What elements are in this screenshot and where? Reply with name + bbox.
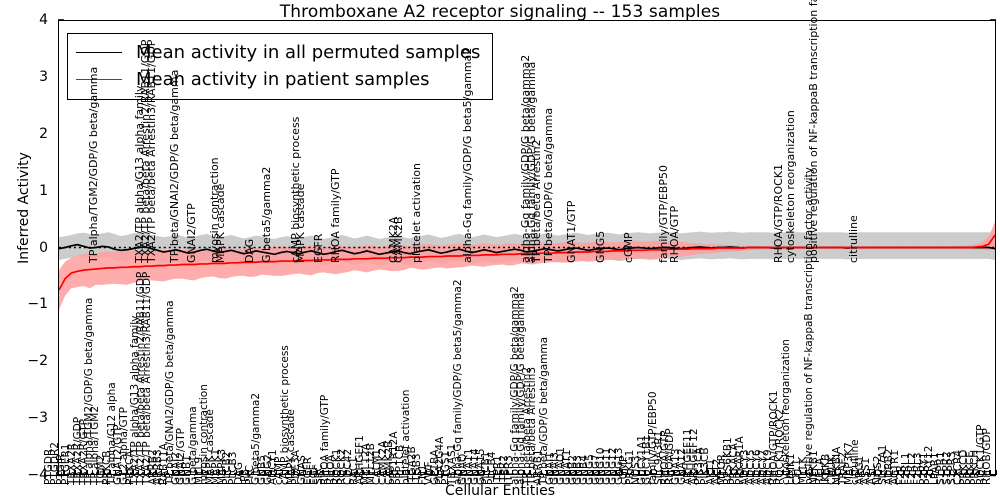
series-annotation: TP beta/GNAI2/GDP/G beta/gamma	[168, 69, 181, 262]
series-annotation: G beta5/gamma2	[260, 166, 273, 262]
chart-title: Thromboxane A2 receptor signaling -- 153…	[0, 2, 1000, 22]
legend-swatch-permuted	[76, 52, 122, 53]
y-tick-label: 2	[0, 126, 48, 142]
figure-canvas: Thromboxane A2 receptor signaling -- 153…	[0, 0, 1000, 500]
series-annotation: TXA2/TP beta/beta Arrestin3/RAB11/GDP	[145, 39, 158, 262]
y-tick-label: −4	[0, 467, 48, 483]
series-annotation: cGMP	[622, 232, 635, 263]
series-annotation: GNAT1/GTP	[565, 200, 578, 262]
series-annotation: RHOA/GTP	[668, 206, 681, 263]
series-annotation: DAG	[243, 238, 256, 262]
chart-legend: Mean activity in all permuted samples Me…	[67, 33, 493, 100]
series-annotation: RHOA family/GTP	[329, 168, 342, 263]
y-tick-label: 1	[0, 183, 48, 199]
y-tick-label: 4	[0, 12, 48, 28]
series-annotation: GNAI2/GTP	[185, 203, 198, 263]
series-annotation: MAPK cascade	[294, 183, 307, 262]
series-annotation: cytoskeleton reorganization	[784, 110, 797, 263]
plot-area: Mean activity in all permuted samples Me…	[58, 20, 996, 475]
series-annotation: TP alpha/TGM2/GDP/G beta/gamma	[87, 66, 100, 262]
series-annotation: citrulline	[847, 215, 860, 263]
series-annotation: platelet activation	[410, 163, 423, 263]
y-tick-label: −2	[0, 353, 48, 369]
x-axis-label: Cellular Entities	[0, 483, 1000, 499]
series-annotation: CAMK2B	[392, 216, 405, 262]
y-tick-label: −3	[0, 410, 48, 426]
y-tick-label: 0	[0, 240, 48, 256]
series-annotation: EGFR	[312, 233, 325, 262]
series-annotation: GNG5	[594, 230, 607, 262]
series-annotation: positive regulation of NF-kappaB transcr…	[807, 0, 820, 263]
series-annotation: MAPK cascade	[214, 183, 227, 262]
series-annotation: alpha-Gq family/GDP/G beta5/gamma2	[461, 47, 474, 262]
legend-label-permuted: Mean activity in all permuted samples	[136, 44, 480, 62]
legend-item-permuted: Mean activity in all permuted samples	[76, 39, 480, 66]
y-tick-label: −1	[0, 296, 48, 312]
series-annotation: TP beta/GDP/G beta/gamma	[542, 108, 555, 263]
y-tick-label: 3	[0, 69, 48, 85]
